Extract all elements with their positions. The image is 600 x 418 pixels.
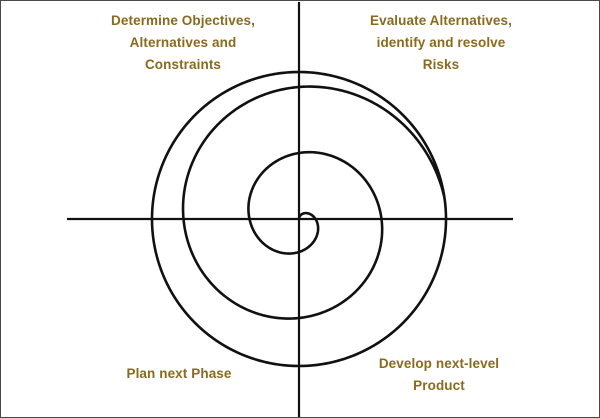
spiral-model-diagram: Determine Objectives, Alternatives and C… bbox=[0, 0, 600, 418]
quadrant-label-determine-objectives: Determine Objectives, Alternatives and C… bbox=[69, 10, 297, 76]
quadrant-label-plan-next-phase: Plan next Phase bbox=[61, 363, 297, 385]
quadrant-label-develop-next-level-product: Develop next-level Product bbox=[319, 353, 559, 397]
quadrant-label-evaluate-alternatives: Evaluate Alternatives, identify and reso… bbox=[323, 10, 559, 76]
